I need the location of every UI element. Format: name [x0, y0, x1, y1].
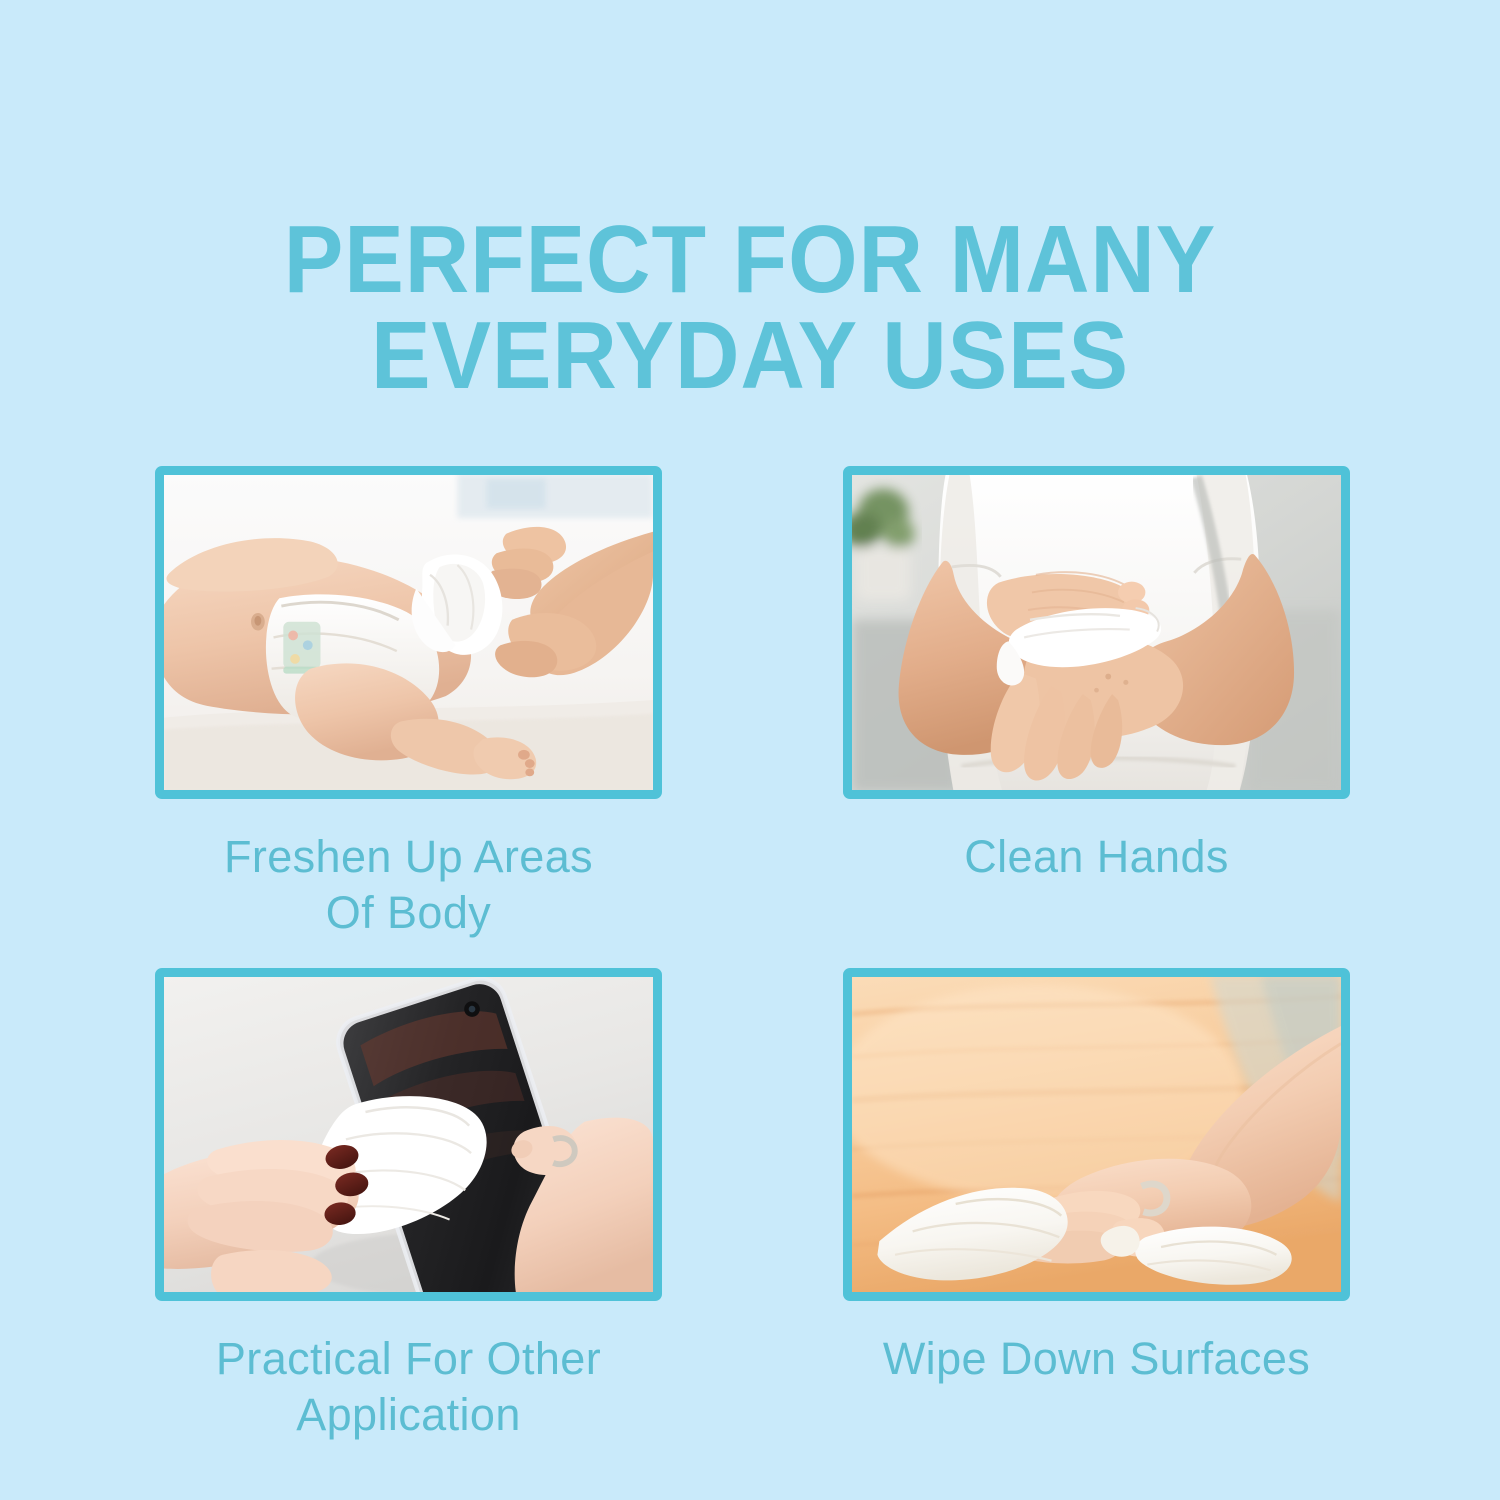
product-feature-infographic: PERFECT FOR MANY EVERYDAY USES [0, 0, 1500, 1500]
use-case-grid: Freshen Up Areas Of Body [155, 466, 1350, 1426]
card-caption-line-1: Wipe Down Surfaces [883, 1333, 1310, 1384]
use-case-card-wipe-down-surfaces: Wipe Down Surfaces [843, 968, 1350, 1387]
card-caption-line-2: Application [296, 1389, 521, 1440]
use-case-card-freshen-up-areas-of-body: Freshen Up Areas Of Body [155, 466, 662, 941]
card-caption-line-1: Practical For Other [216, 1333, 601, 1384]
card-caption-line-2: Of Body [326, 887, 491, 938]
card-caption: Practical For Other Application [155, 1331, 662, 1443]
photo-frame [155, 466, 662, 799]
clean-hands-wipe-photo [852, 475, 1341, 790]
use-case-card-clean-hands: Clean Hands [843, 466, 1350, 885]
card-caption-line-1: Clean Hands [964, 831, 1229, 882]
page-title-line-2: EVERYDAY USES [53, 308, 1448, 404]
phone-screen-wipe-photo [164, 977, 653, 1292]
photo-frame [843, 968, 1350, 1301]
card-caption-line-1: Freshen Up Areas [224, 831, 593, 882]
card-caption: Clean Hands [843, 829, 1350, 885]
page-title: PERFECT FOR MANY EVERYDAY USES [53, 212, 1448, 404]
card-caption: Freshen Up Areas Of Body [155, 829, 662, 941]
page-title-line-1: PERFECT FOR MANY [53, 212, 1448, 308]
use-case-card-practical-for-other-application: Practical For Other Application [155, 968, 662, 1443]
photo-frame [155, 968, 662, 1301]
photo-frame [843, 466, 1350, 799]
baby-diaper-change-wipe-photo [164, 475, 653, 790]
card-caption: Wipe Down Surfaces [843, 1331, 1350, 1387]
wipe-wooden-surface-photo [852, 977, 1341, 1292]
